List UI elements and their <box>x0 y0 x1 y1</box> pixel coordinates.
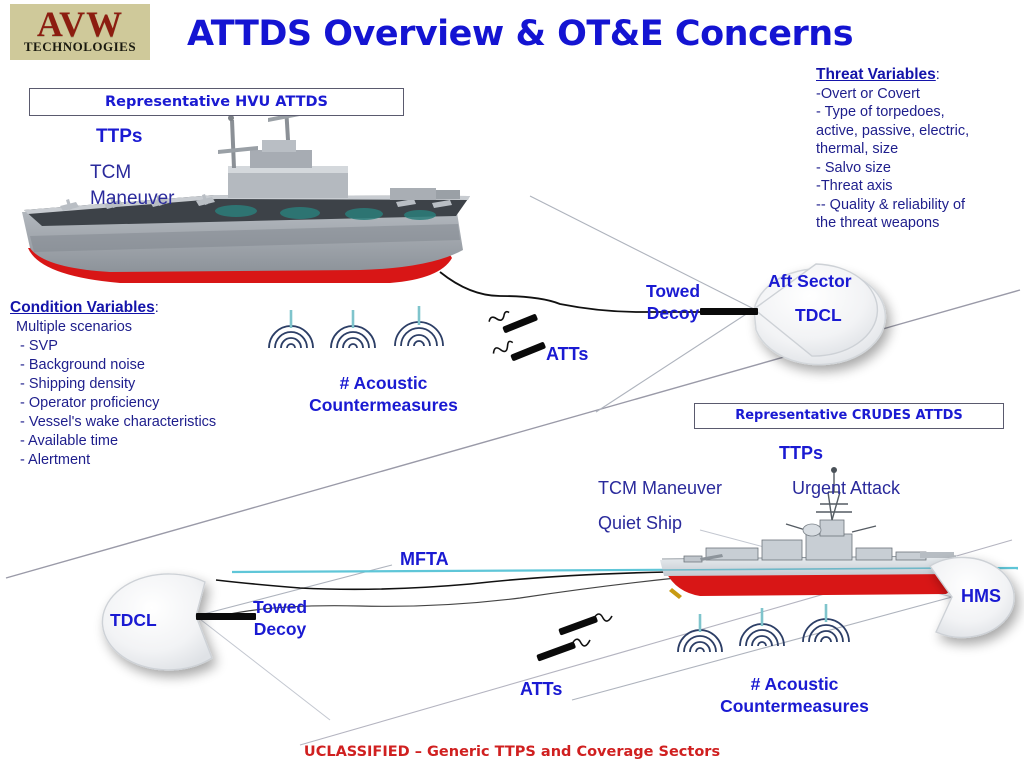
crudes-urgent-attack-label: Urgent Attack <box>792 478 900 499</box>
att-torpedoes-bottom <box>536 614 612 662</box>
representative-crudes-attds-header: Representative CRUDES ATTDS <box>694 403 1004 429</box>
condition-variables-item: - Available time <box>10 432 295 451</box>
aft-sector-label: Aft Sector <box>768 271 852 292</box>
logo-wordmark: AVW <box>37 8 123 40</box>
condition-variables-item: - Operator proficiency <box>10 394 295 413</box>
condition-variables-item: - SVP <box>10 337 295 356</box>
crudes-tcm-maneuver-label: TCM Maneuver <box>598 478 722 499</box>
hvu-tcm-maneuver-label: TCMManeuver <box>90 160 175 212</box>
page-title: ATTDS Overview & OT&E Concerns <box>160 14 880 54</box>
acoustic-cm-stems-top <box>291 306 419 328</box>
condition-variables-heading: Condition Variables: <box>10 298 295 318</box>
threat-variables-heading: Threat Variables: <box>816 66 1021 85</box>
hvu-towed-decoy-label: TowedDecoy <box>630 280 716 324</box>
crudes-atts-label: ATTs <box>520 679 562 700</box>
avw-technologies-logo: AVW TECHNOLOGIES <box>10 4 150 60</box>
hvu-acoustic-countermeasures-label: # AcousticCountermeasures <box>276 372 491 416</box>
crudes-towed-decoy-label: TowedDecoy <box>237 596 323 640</box>
crudes-quiet-ship-label: Quiet Ship <box>598 513 682 534</box>
hvu-tdcl-label: TDCL <box>795 305 842 326</box>
threat-variables-item: - Salvo size <box>816 159 1021 178</box>
condition-variables-intro: Multiple scenarios <box>10 318 295 337</box>
threat-variables-item: - Type of torpedoes, <box>816 103 1021 122</box>
condition-variables-item: - Shipping density <box>10 375 295 394</box>
threat-variables-colon: : <box>936 67 940 83</box>
mfta-waterline <box>232 568 1018 572</box>
condition-variables-item: - Vessel's wake characteristics <box>10 413 295 432</box>
classification-footer: UCLASSIFIED – Generic TTPS and Coverage … <box>0 744 1024 760</box>
threat-variables-item: the threat weapons <box>816 214 1021 233</box>
condition-variables-colon: : <box>155 300 159 316</box>
mfta-label: MFTA <box>400 549 449 570</box>
representative-hvu-attds-header: Representative HVU ATTDS <box>29 88 404 116</box>
slide-canvas: AVW TECHNOLOGIES ATTDS Overview & OT&E C… <box>0 0 1024 768</box>
hms-label: HMS <box>961 586 1001 607</box>
condition-variables-heading-text: Condition Variables <box>10 299 155 316</box>
condition-variables-block: Condition Variables: Multiple scenarios … <box>10 298 295 470</box>
threat-variables-block: Threat Variables: -Overt or Covert - Typ… <box>816 66 1021 233</box>
crudes-tdcl-label: TDCL <box>110 610 157 631</box>
acoustic-cm-icons-top <box>269 322 443 348</box>
crudes-ttps-label: TTPs <box>779 443 823 464</box>
threat-variables-item: -Threat axis <box>816 177 1021 196</box>
threat-variables-item: -Overt or Covert <box>816 85 1021 104</box>
acoustic-cm-stems-bottom <box>700 604 826 632</box>
threat-variables-item: thermal, size <box>816 140 1021 159</box>
threat-variables-item: active, passive, electric, <box>816 122 1021 141</box>
crudes-acoustic-countermeasures-label: # AcousticCountermeasures <box>672 673 917 717</box>
threat-variables-item: -- Quality & reliability of <box>816 196 1021 215</box>
logo-subtext: TECHNOLOGIES <box>24 40 136 54</box>
condition-variables-item: - Alertment <box>10 451 295 470</box>
threat-variables-heading-text: Threat Variables <box>816 66 936 83</box>
hvu-atts-label: ATTs <box>546 344 588 365</box>
condition-variables-item: - Background noise <box>10 356 295 375</box>
hvu-ttps-label: TTPs <box>96 126 142 148</box>
att-torpedoes-top <box>488 311 546 362</box>
acoustic-cm-icons-bottom <box>678 619 849 652</box>
